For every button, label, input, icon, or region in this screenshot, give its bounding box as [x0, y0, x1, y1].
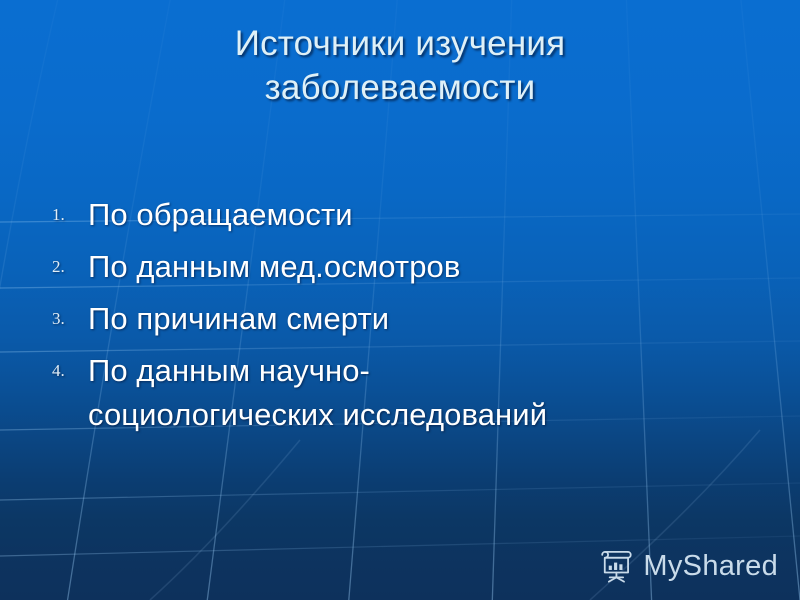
list-item-line-2: социологических исследований [88, 393, 744, 437]
list-item: 3. По причинам смерти [44, 297, 744, 341]
title-line-1: Источники изучения [110, 22, 690, 66]
list-item: 1. По обращаемости [44, 193, 744, 237]
slide-canvas: Источники изучения заболеваемости 1. По … [0, 0, 800, 600]
list-item-number: 1. [44, 193, 88, 237]
list-item-text: По обращаемости [88, 193, 744, 237]
list-item-text: По данным мед.осмотров [88, 245, 744, 289]
bar-chart-glyph [609, 563, 623, 570]
numbered-list: 1. По обращаемости 2. По данным мед.осмо… [44, 193, 744, 445]
title-line-2: заболеваемости [110, 66, 690, 110]
list-item-line-1: По данным научно- [88, 353, 370, 388]
list-item-line-1: По данным мед.осмотров [88, 249, 460, 284]
presentation-chart-icon [596, 548, 634, 584]
myshared-watermark: MyShared [596, 548, 778, 584]
list-item-line-1: По причинам смерти [88, 301, 389, 336]
list-item-line-1: По обращаемости [88, 197, 353, 232]
list-item-number: 2. [44, 245, 88, 289]
list-item-number: 4. [44, 349, 88, 393]
list-item: 2. По данным мед.осмотров [44, 245, 744, 289]
page-title: Источники изучения заболеваемости [0, 22, 800, 110]
myshared-label: MyShared [643, 552, 778, 581]
list-item: 4. По данным научно- социологических исс… [44, 349, 744, 437]
list-item-text: По данным научно- социологических исслед… [88, 349, 744, 437]
list-item-number: 3. [44, 297, 88, 341]
list-item-text: По причинам смерти [88, 297, 744, 341]
